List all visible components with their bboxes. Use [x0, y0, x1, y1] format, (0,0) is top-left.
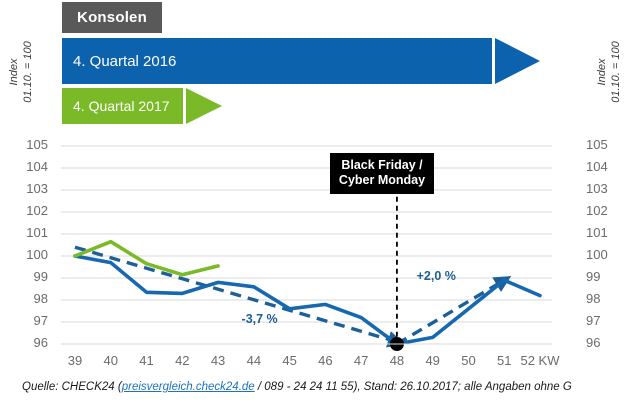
y-tick-label-right: 101	[586, 225, 612, 240]
y-tick-label-left: 96	[22, 335, 48, 350]
footer-suffix: / 089 - 24 24 11 55), Stand: 26.10.2017;…	[255, 381, 572, 393]
chart-plot-area: 1051051041041031031021021011011001009999…	[0, 135, 630, 365]
legend-item-2016: 4. Quartal 2016	[62, 38, 540, 84]
y-tick-label-left: 104	[22, 159, 48, 174]
y-tick-label-right: 102	[586, 203, 612, 218]
y-tick-label-left: 102	[22, 203, 48, 218]
trend-up-label: +2,0 %	[417, 269, 456, 283]
y-tick-label-right: 105	[586, 137, 612, 152]
index-caption-left-line2: 01.10. = 100	[21, 29, 35, 115]
y-tick-label-right: 97	[586, 313, 612, 328]
y-tick-label-right: 104	[586, 159, 612, 174]
trend-down-label: -3,7 %	[242, 312, 278, 326]
y-tick-label-right: 98	[586, 291, 612, 306]
y-tick-label-right: 96	[586, 335, 612, 350]
y-tick-label-left: 101	[22, 225, 48, 240]
legend-arrow-head-2016-icon	[495, 38, 540, 84]
y-tick-label-left: 100	[22, 247, 48, 262]
legend-label-2016: 4. Quartal 2016	[62, 53, 176, 70]
index-caption-left: Index 01.10. = 100	[7, 29, 35, 115]
black-friday-callout: Black Friday / Cyber Monday	[330, 153, 434, 194]
y-tick-label-right: 103	[586, 181, 612, 196]
y-tick-label-left: 105	[22, 137, 48, 152]
callout-line1: Black Friday /	[341, 158, 422, 172]
index-caption-right-line2: 01.10. = 100	[609, 29, 623, 115]
trend-line-up	[397, 280, 504, 344]
source-footer: Quelle: CHECK24 (preisvergleich.check24.…	[22, 381, 572, 393]
chart-canvas	[0, 135, 630, 365]
legend-bar-body-2016: 4. Quartal 2016	[62, 38, 492, 84]
y-tick-label-left: 99	[22, 269, 48, 284]
callout-line2: Cyber Monday	[339, 173, 425, 187]
category-badge: Konsolen	[62, 2, 162, 33]
y-tick-label-right: 100	[586, 247, 612, 262]
legend-bar-body-2017: 4. Quartal 2017	[62, 88, 183, 124]
trend-line-down	[75, 247, 397, 342]
y-tick-label-left: 103	[22, 181, 48, 196]
y-tick-label-right: 99	[586, 269, 612, 284]
y-tick-label-left: 97	[22, 313, 48, 328]
source-link[interactable]: preisvergleich.check24.de	[122, 381, 255, 393]
footer-prefix: Quelle: CHECK24 (	[22, 381, 122, 393]
y-tick-label-left: 98	[22, 291, 48, 306]
index-caption-right-line1: Index	[595, 29, 609, 115]
index-caption-right: Index 01.10. = 100	[595, 29, 623, 115]
x-tick-label: 52 KW	[510, 353, 570, 368]
legend-arrow-head-2017-icon	[186, 88, 222, 124]
legend-item-2017: 4. Quartal 2017	[62, 88, 222, 124]
index-caption-left-line1: Index	[7, 29, 21, 115]
legend-label-2017: 4. Quartal 2017	[62, 98, 170, 114]
